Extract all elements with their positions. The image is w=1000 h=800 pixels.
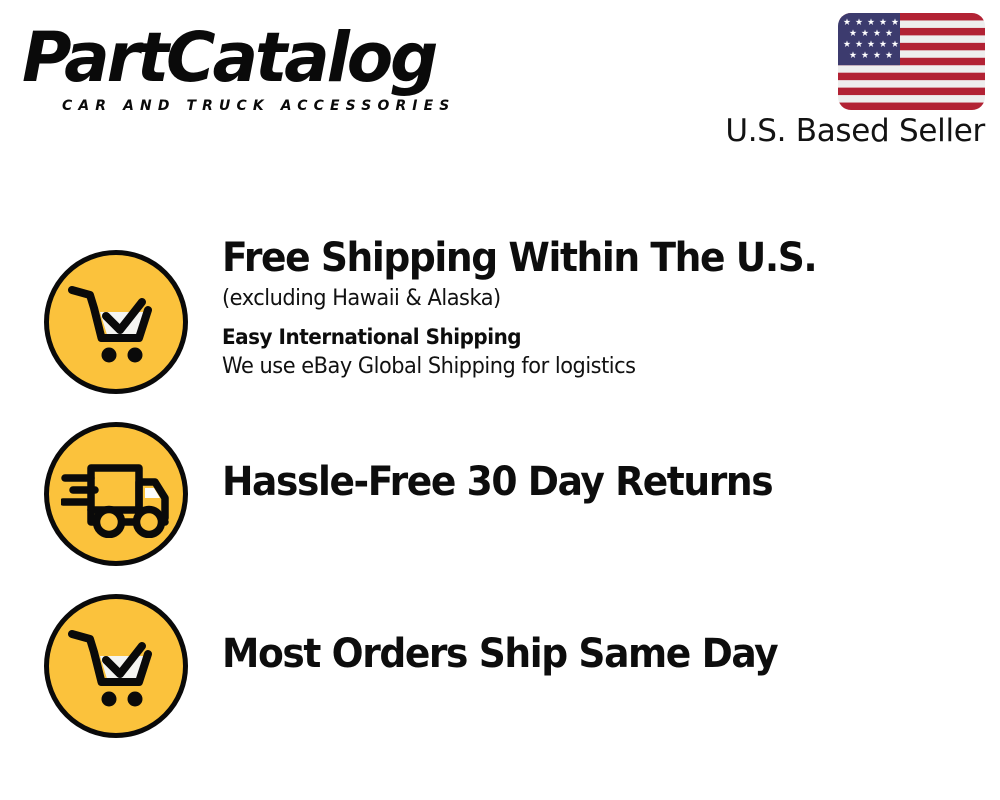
benefit-subtitle: (excluding Hawaii & Alaska) <box>222 286 944 312</box>
benefit-title: Free Shipping Within The U.S. <box>222 236 936 281</box>
benefit-text-block: Free Shipping Within The U.S. (excluding… <box>222 236 982 381</box>
delivery-truck-icon <box>61 450 171 538</box>
brand-wordmark: PartCatalog <box>22 24 435 93</box>
us-flag-icon <box>838 13 985 110</box>
brand-logo: PartCatalog CAR AND TRUCK ACCESSORIES <box>22 24 492 116</box>
shopping-cart-check-icon <box>64 616 168 716</box>
brand-tagline: CAR AND TRUCK ACCESSORIES <box>62 98 455 114</box>
shopping-cart-check-icon <box>64 272 168 372</box>
benefit-icon-circle <box>44 594 188 738</box>
benefit-icon-circle <box>44 250 188 394</box>
benefit-title: Most Orders Ship Same Day <box>222 632 936 677</box>
benefit-row-returns: Hassle-Free 30 Day Returns <box>0 408 1000 580</box>
benefit-row-same-day-ship: Most Orders Ship Same Day <box>0 580 1000 752</box>
benefit-subtitle-strong: Easy International Shipping <box>222 325 944 350</box>
benefit-title: Hassle-Free 30 Day Returns <box>222 460 936 505</box>
benefit-subtitle-detail: We use eBay Global Shipping for logistic… <box>222 354 944 380</box>
us-based-seller-block: U.S. Based Seller <box>715 13 985 150</box>
benefits-list: Free Shipping Within The U.S. (excluding… <box>0 236 1000 752</box>
benefit-text-block: Hassle-Free 30 Day Returns <box>222 460 982 505</box>
page-header: PartCatalog CAR AND TRUCK ACCESSORIES <box>0 0 1000 175</box>
benefit-icon-circle <box>44 422 188 566</box>
benefit-text-block: Most Orders Ship Same Day <box>222 632 982 677</box>
benefit-row-free-shipping: Free Shipping Within The U.S. (excluding… <box>0 236 1000 408</box>
us-based-seller-label: U.S. Based Seller <box>715 114 985 150</box>
